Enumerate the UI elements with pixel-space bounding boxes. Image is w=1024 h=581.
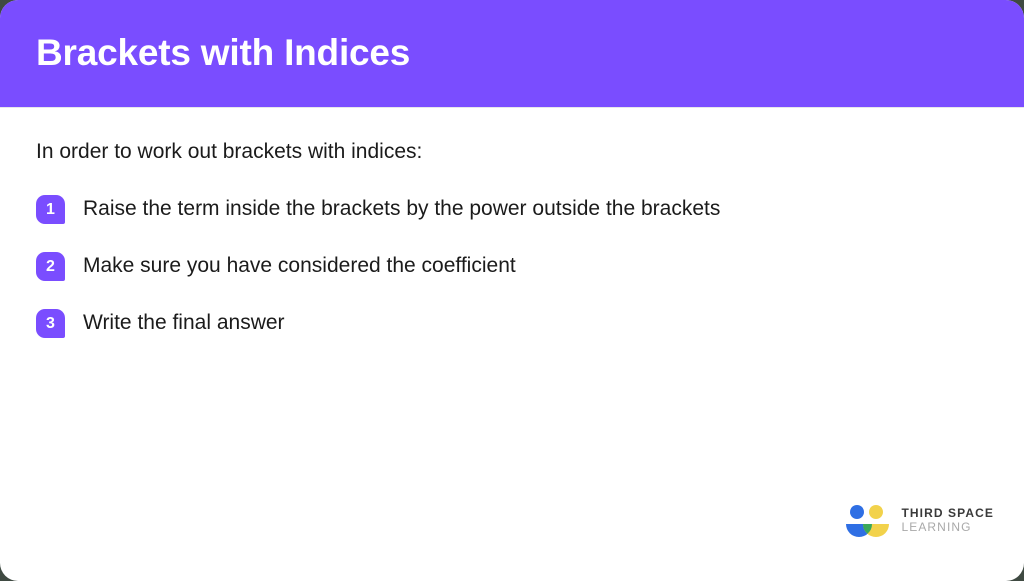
step-number-badge: 3 xyxy=(36,309,65,338)
brand-logo: THIRD SPACE LEARNING xyxy=(843,503,994,539)
list-item: 1 Raise the term inside the brackets by … xyxy=(36,193,988,224)
step-text: Make sure you have considered the coeffi… xyxy=(83,250,516,279)
list-item: 2 Make sure you have considered the coef… xyxy=(36,250,988,281)
brand-name-secondary: LEARNING xyxy=(901,521,994,535)
list-item: 3 Write the final answer xyxy=(36,307,988,338)
step-number-badge: 1 xyxy=(36,195,65,224)
step-text: Write the final answer xyxy=(83,307,285,336)
brand-logo-text: THIRD SPACE LEARNING xyxy=(901,507,994,535)
intro-text: In order to work out brackets with indic… xyxy=(36,138,988,165)
slide-header: Brackets with Indices xyxy=(0,0,1024,108)
slide-body: In order to work out brackets with indic… xyxy=(0,108,1024,338)
third-space-learning-logo-icon xyxy=(843,503,891,539)
page-title: Brackets with Indices xyxy=(36,33,410,74)
slide-card: Brackets with Indices In order to work o… xyxy=(0,0,1024,581)
step-number-badge: 2 xyxy=(36,252,65,281)
steps-list: 1 Raise the term inside the brackets by … xyxy=(36,193,988,338)
brand-name-primary: THIRD SPACE xyxy=(901,507,994,521)
step-text: Raise the term inside the brackets by th… xyxy=(83,193,720,222)
